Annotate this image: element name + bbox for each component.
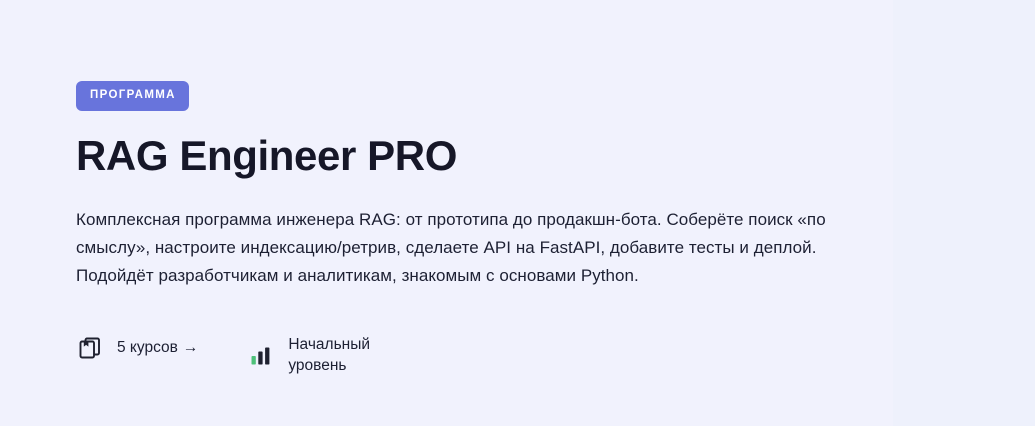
courses-count-label: 5 курсов→ xyxy=(117,337,198,358)
level-bars-icon xyxy=(247,341,275,369)
arrow-right-icon: → xyxy=(183,337,199,358)
program-description: Комплексная программа инженера RAG: от п… xyxy=(76,206,891,290)
program-badge: ПРОГРАММА xyxy=(76,81,189,111)
stacked-documents-icon xyxy=(76,334,104,362)
program-hero-page: ПРОГРАММА RAG Engineer PRO Комплексная п… xyxy=(0,0,1035,426)
courses-count-text: 5 курсов xyxy=(117,339,178,356)
meta-item-courses[interactable]: 5 курсов→ xyxy=(76,334,198,362)
level-label: Начальный уровень xyxy=(288,334,370,376)
page-title: RAG Engineer PRO xyxy=(76,132,1035,180)
program-hero: ПРОГРАММА RAG Engineer PRO Комплексная п… xyxy=(0,0,1035,426)
program-meta-row: 5 курсов→ Начальный уровень xyxy=(76,334,1035,376)
meta-item-level: Начальный уровень xyxy=(247,334,370,376)
